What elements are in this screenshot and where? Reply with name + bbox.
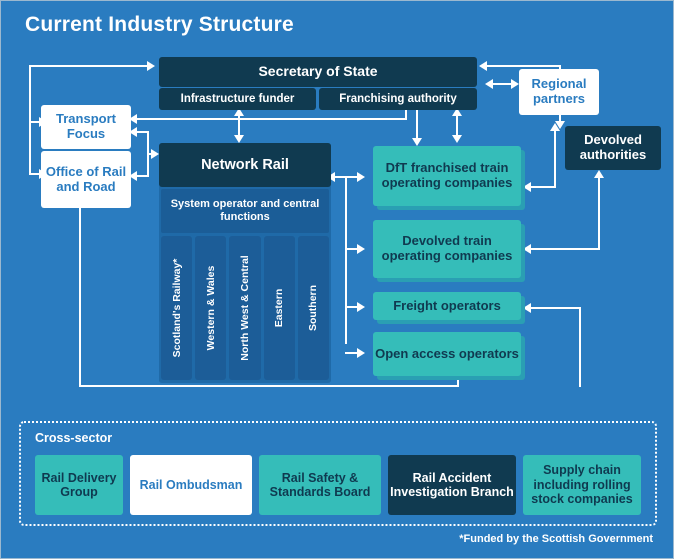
region-label: Eastern — [273, 289, 285, 328]
open-access-operators-box[interactable]: Open access operators — [373, 332, 521, 376]
arrowhead-nr-to-dft-tocs — [357, 172, 365, 182]
arrowhead-to-devolved-tocs — [357, 244, 365, 254]
footnote: *Funded by the Scottish Government — [459, 533, 653, 545]
connector-regional-to-sos — [487, 65, 561, 67]
dft-franchised-train-operating-companies-box[interactable]: DfT franchised train operating companies — [373, 146, 521, 206]
franchising-authority-box[interactable]: Franchising authority — [319, 88, 477, 110]
connector-franchising-to-dft-tocs — [416, 107, 418, 141]
region-southern[interactable]: Southern — [298, 236, 329, 380]
arrowhead-regional-to-sos — [479, 61, 487, 71]
network-rail-regions: Scotland's Railway* Western & Wales Nort… — [161, 236, 329, 380]
connector-bracket-bottom — [137, 175, 149, 177]
arrowhead-into-freight — [523, 303, 531, 313]
network-rail-subheading[interactable]: System operator and central functions — [161, 189, 329, 233]
connector-bottom-rail-right-join — [579, 385, 581, 387]
region-label: Western & Wales — [205, 266, 217, 351]
arrowhead-down-to-dft-tocs — [412, 138, 422, 146]
infrastructure-funder-box[interactable]: Infrastructure funder — [159, 88, 316, 110]
arrowhead-to-freight-operators — [357, 302, 365, 312]
region-label: North West & Central — [239, 255, 251, 360]
cross-sector-panel: Cross-sector Rail Delivery Group Rail Om… — [19, 421, 657, 526]
region-eastern[interactable]: Eastern — [264, 236, 295, 380]
connector-bracket-top — [137, 131, 149, 133]
arrowhead-left-sos-regional — [485, 79, 493, 89]
devolved-train-operating-companies-box[interactable]: Devolved train operating companies — [373, 220, 521, 278]
rail-accident-investigation-branch-box[interactable]: Rail Accident Investigation Branch — [388, 455, 516, 515]
region-label: Scotland's Railway* — [171, 259, 183, 358]
arrowhead-into-devolved-tocs-right — [523, 244, 531, 254]
arrowhead-to-secretary-of-state — [147, 61, 155, 71]
connector-sos-to-transport-focus — [137, 118, 407, 120]
region-western-and-wales[interactable]: Western & Wales — [195, 236, 226, 380]
network-rail-heading[interactable]: Network Rail — [159, 143, 331, 187]
rail-safety-and-standards-board-box[interactable]: Rail Safety & Standards Board — [259, 455, 381, 515]
connector-sos-left-top — [29, 65, 149, 67]
connector-dft-tocs-feedback — [531, 186, 556, 188]
arrowhead-down-second-double — [452, 135, 462, 143]
supply-chain-box[interactable]: Supply chain including rolling stock com… — [523, 455, 641, 515]
connector-operator-trunk — [345, 176, 347, 344]
arrowhead-bracket-to-network-rail — [151, 149, 159, 159]
connector-left-vertical-tf — [29, 65, 31, 123]
cross-sector-items: Rail Delivery Group Rail Ombudsman Rail … — [35, 455, 641, 515]
industry-structure-diagram: Current Industry Structure — [0, 0, 674, 559]
region-scotlands-railway[interactable]: Scotland's Railway* — [161, 236, 192, 380]
connector-bottom-rail — [79, 385, 459, 387]
network-rail-group: Network Rail System operator and central… — [159, 143, 331, 383]
region-north-west-and-central[interactable]: North West & Central — [229, 236, 260, 380]
connector-left-vertical-orr — [29, 121, 31, 175]
freight-operators-box[interactable]: Freight operators — [373, 292, 521, 320]
arrowhead-right-sos-regional — [511, 79, 519, 89]
connector-up-to-regional-partners — [554, 129, 556, 187]
connector-bottom-rail-right-riser — [579, 307, 581, 387]
arrowhead-down-to-network-rail — [234, 135, 244, 143]
arrowhead-up-devolved-authorities — [594, 170, 604, 178]
arrowhead-to-open-access-operators — [357, 348, 365, 358]
page-title: Current Industry Structure — [25, 13, 294, 37]
devolved-authorities-box[interactable]: Devolved authorities — [565, 126, 661, 170]
connector-into-freight — [531, 307, 581, 309]
connector-orr-vertical-from-bottom — [79, 197, 81, 387]
office-of-rail-and-road-box[interactable]: Office of Rail and Road — [41, 151, 131, 208]
connector-devolved-authorities-down — [598, 176, 600, 248]
cross-sector-label: Cross-sector — [35, 431, 112, 445]
region-label: Southern — [307, 285, 319, 331]
arrowhead-up-regional-partners — [550, 123, 560, 131]
rail-delivery-group-box[interactable]: Rail Delivery Group — [35, 455, 123, 515]
secretary-of-state-box[interactable]: Secretary of State — [159, 57, 477, 87]
transport-focus-box[interactable]: Transport Focus — [41, 105, 131, 149]
connector-devolved-authorities-to-tocs — [531, 248, 600, 250]
arrowhead-into-dft-tocs-right — [523, 182, 531, 192]
regional-partners-box[interactable]: Regional partners — [519, 69, 599, 115]
rail-ombudsman-box[interactable]: Rail Ombudsman — [130, 455, 252, 515]
